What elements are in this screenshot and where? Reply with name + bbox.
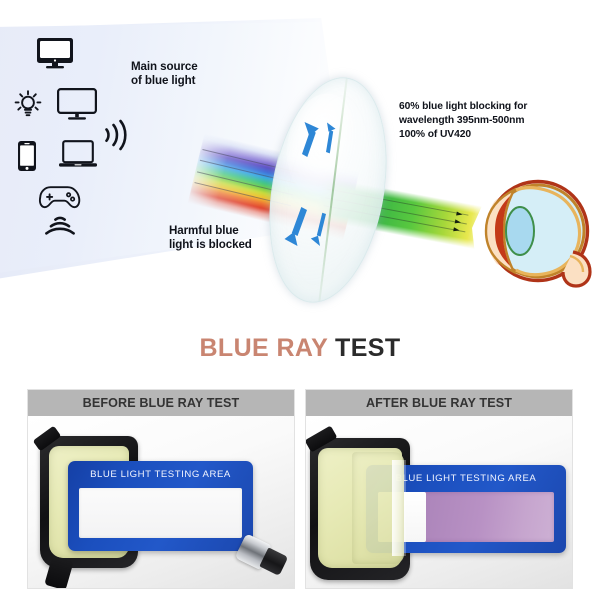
laptop-icon bbox=[58, 140, 98, 170]
light-bulb-icon bbox=[12, 88, 44, 120]
harmful-blue-light-label: Harmful blue light is blocked bbox=[169, 224, 252, 252]
harmful-line-2: light is blocked bbox=[169, 238, 252, 252]
spec-line-3: 100% of UV420 bbox=[399, 128, 527, 142]
smartphone-icon bbox=[17, 140, 37, 172]
panel-after-test: AFTER BLUE RAY TEST BLUE LIGHT TESTING A… bbox=[305, 389, 573, 589]
panel-before-test: BEFORE BLUE RAY TEST BLUE LIGHT TESTING … bbox=[27, 389, 295, 589]
panel-after-header: AFTER BLUE RAY TEST bbox=[306, 390, 572, 416]
blue-testing-card-before: BLUE LIGHT TESTING AREA bbox=[68, 461, 253, 551]
blue-light-diagram-section: 60% blue light blocking for wavelength 3… bbox=[0, 0, 600, 322]
reflected-blue-light-arrows-up bbox=[296, 104, 360, 165]
desktop-monitor-icon bbox=[57, 88, 97, 121]
spec-line-1: 60% blue light blocking for bbox=[399, 100, 527, 114]
spec-line-2: wavelength 395nm-500nm bbox=[399, 114, 527, 128]
spec-text-block: 60% blue light blocking for wavelength 3… bbox=[399, 100, 527, 142]
page-title: BLUE RAY TEST bbox=[0, 334, 600, 363]
title-accent-part: BLUE RAY bbox=[199, 334, 335, 362]
testing-strip-before bbox=[79, 488, 242, 538]
signal-waves-up-icon bbox=[42, 214, 78, 240]
human-eye-cross-section bbox=[466, 168, 596, 294]
lens-edge-highlight bbox=[392, 460, 406, 556]
infographic-root: 60% blue light blocking for wavelength 3… bbox=[0, 0, 600, 600]
card-label-before: BLUE LIGHT TESTING AREA bbox=[68, 469, 253, 480]
title-dark-part: TEST bbox=[335, 334, 401, 362]
panel-before-header: BEFORE BLUE RAY TEST bbox=[28, 390, 294, 416]
panel-before-photo: BLUE LIGHT TESTING AREA bbox=[28, 416, 294, 589]
main-source-label: Main source of blue light bbox=[131, 60, 198, 88]
reflected-blue-light-arrows-down bbox=[277, 206, 339, 267]
game-controller-icon bbox=[38, 183, 81, 211]
panel-after-photo: BLUE LIGHT TESTING AREA bbox=[306, 416, 572, 589]
main-source-line-2: of blue light bbox=[131, 74, 198, 88]
tv-monitor-icon bbox=[36, 37, 74, 69]
signal-waves-right-icon bbox=[101, 118, 127, 152]
harmful-line-1: Harmful blue bbox=[169, 224, 252, 238]
main-source-line-1: Main source bbox=[131, 60, 198, 74]
